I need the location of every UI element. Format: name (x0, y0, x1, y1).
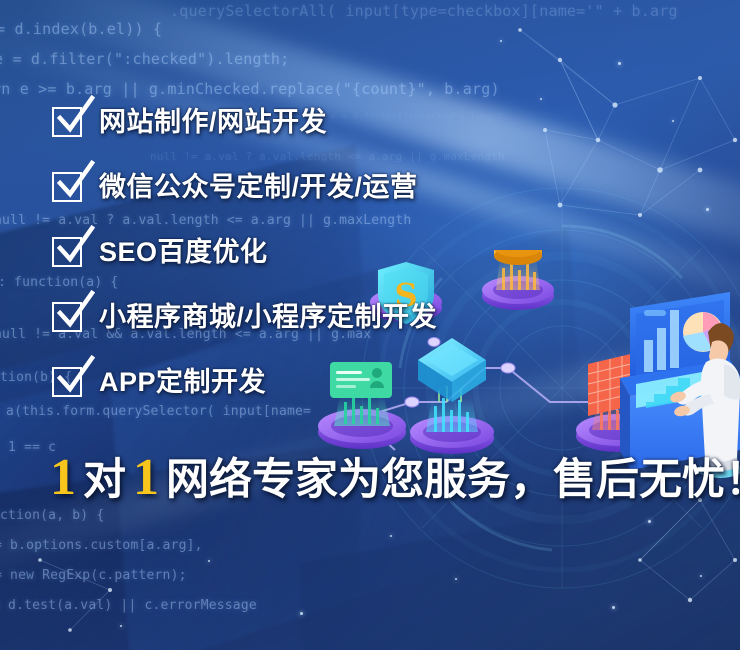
particle (648, 520, 651, 523)
headline-number-first: 1 (50, 449, 76, 506)
feature-item-miniprogram[interactable]: 小程序商城/小程序定制开发 (52, 295, 437, 339)
particle (700, 575, 702, 577)
checkbox-checked-icon (52, 367, 82, 397)
headline-number-second: 1 (133, 449, 159, 506)
feature-list: 网站制作/网站开发 微信公众号定制/开发/运营 SEO百度优化 小程序商城/小程… (52, 100, 437, 425)
headline-slogan: 1对1网络专家为您服务，售后无忧！ (50, 452, 740, 504)
feature-label: SEO百度优化 (99, 239, 268, 266)
code-line: nction(a, b) { (0, 508, 104, 523)
particle (455, 578, 457, 580)
particle (612, 606, 615, 609)
headline-mid-word: 对 (83, 456, 126, 504)
code-line: n d.test(a.val) || c.errorMessage (0, 598, 257, 613)
feature-label: 小程序商城/小程序定制开发 (99, 304, 437, 331)
particle (706, 208, 709, 211)
checkbox-checked-icon (52, 302, 82, 332)
code-line: e = d.filter(":checked").length; (0, 50, 289, 68)
code-line: 1 == c (8, 440, 56, 455)
feature-item-app[interactable]: APP定制开发 (52, 360, 437, 404)
particle (390, 535, 392, 537)
particle (672, 120, 674, 122)
particle (208, 560, 210, 562)
checkbox-checked-icon (52, 107, 82, 137)
feature-item-seo[interactable]: SEO百度优化 (52, 230, 437, 274)
feature-label: APP定制开发 (99, 369, 266, 396)
headline-rest-text: 网络专家为您服务，售后无忧！ (166, 456, 740, 504)
checkbox-checked-icon (52, 172, 82, 202)
coin-stack-icon: ¥ (482, 250, 555, 310)
code-line: .querySelectorAll( input[type=checkbox][… (170, 2, 678, 20)
feature-item-wechat[interactable]: 微信公众号定制/开发/运营 (52, 165, 437, 209)
code-line: = new RegExp(c.pattern); (0, 568, 187, 583)
particle (618, 62, 621, 65)
particle (300, 612, 303, 615)
code-line: = d.index(b.el)) { (0, 20, 162, 38)
feature-label: 网站制作/网站开发 (99, 109, 327, 136)
particle (500, 40, 502, 42)
checkbox-checked-icon (52, 237, 82, 267)
feature-label: 微信公众号定制/开发/运营 (99, 174, 418, 201)
feature-item-website[interactable]: 网站制作/网站开发 (52, 100, 437, 144)
promo-banner: .querySelectorAll( input[type=checkbox][… (0, 0, 740, 650)
code-line: = b.options.custom[a.arg], (0, 538, 203, 553)
particle (540, 98, 542, 100)
particle (120, 625, 122, 627)
